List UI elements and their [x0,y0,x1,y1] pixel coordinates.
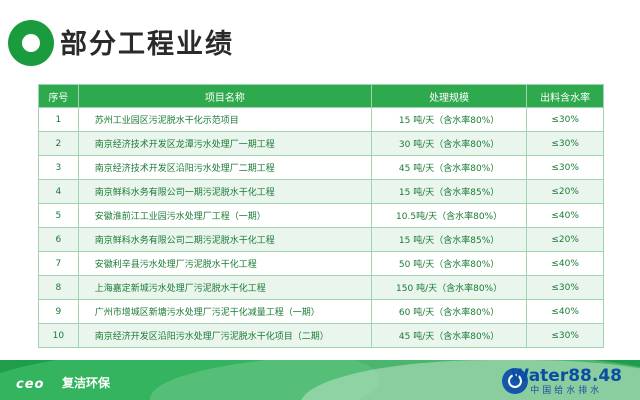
brand-name: 复洁环保 [62,374,110,391]
watermark-sub: 中国给水排水 [511,387,622,396]
cell-scale: 60 吨/天（含水率80%） [371,300,526,324]
performance-table-wrapper: 序号 项目名称 处理规模 出料含水率 1 苏州工业园区污泥脱水干化示范项目 15… [38,84,604,348]
cell-name: 南京鲜科水务有限公司一期污泥脱水干化工程 [78,180,371,204]
watermark: Water88.48 中国给水排水 [511,368,622,396]
cell-name: 苏州工业园区污泥脱水干化示范项目 [78,108,371,132]
cell-water: ≤40% [527,252,604,276]
cell-scale: 15 吨/天（含水率80%） [371,108,526,132]
cell-name: 上海嘉定新城污水处理厂污泥脱水干化工程 [78,276,371,300]
cell-scale: 50 吨/天（含水率80%） [371,252,526,276]
table-row: 3 南京经济技术开发区沿阳污水处理厂二期工程 45 吨/天（含水率80%） ≤3… [39,156,604,180]
table-row: 8 上海嘉定新城污水处理厂污泥脱水干化工程 150 吨/天（含水率80%） ≤3… [39,276,604,300]
table-body: 1 苏州工业园区污泥脱水干化示范项目 15 吨/天（含水率80%） ≤30% 2… [39,108,604,348]
cell-name: 安徽利辛县污水处理厂污泥脱水干化工程 [78,252,371,276]
slide: 部分工程业绩 序号 项目名称 处理规模 出料含水率 1 苏州工业园区污泥脱水干化… [0,0,640,400]
table-header-row: 序号 项目名称 处理规模 出料含水率 [39,85,604,108]
table-header: 序号 项目名称 处理规模 出料含水率 [39,85,604,108]
cell-no: 5 [39,204,79,228]
cell-name: 南京经济技术开发区沿阳污水处理厂二期工程 [78,156,371,180]
table-row: 4 南京鲜科水务有限公司一期污泥脱水干化工程 15 吨/天（含水率85%） ≤2… [39,180,604,204]
cell-water: ≤30% [527,108,604,132]
cell-water: ≤30% [527,132,604,156]
cell-no: 7 [39,252,79,276]
cell-water: ≤20% [527,180,604,204]
performance-table: 序号 项目名称 处理规模 出料含水率 1 苏州工业园区污泥脱水干化示范项目 15… [38,84,604,348]
watermark-word: Water [511,366,569,386]
cell-no: 8 [39,276,79,300]
table-row: 1 苏州工业园区污泥脱水干化示范项目 15 吨/天（含水率80%） ≤30% [39,108,604,132]
cell-name: 南京经济技术开发区龙潭污水处理厂一期工程 [78,132,371,156]
cell-water: ≤30% [527,324,604,348]
col-header-no: 序号 [39,85,79,108]
cell-water: ≤30% [527,276,604,300]
cell-name: 南京经济开发区沿阳污水处理厂污泥脱水干化项目（二期） [78,324,371,348]
cell-water: ≤40% [527,300,604,324]
table-row: 2 南京经济技术开发区龙潭污水处理厂一期工程 30 吨/天（含水率80%） ≤3… [39,132,604,156]
col-header-scale: 处理规模 [371,85,526,108]
cell-no: 3 [39,156,79,180]
cell-name: 广州市增城区新塘污水处理厂污泥干化减量工程（一期） [78,300,371,324]
cell-water: ≤40% [527,204,604,228]
cell-scale: 15 吨/天（含水率85%） [371,228,526,252]
cell-water: ≤30% [527,156,604,180]
cell-no: 10 [39,324,79,348]
cell-no: 6 [39,228,79,252]
cell-no: 4 [39,180,79,204]
table-row: 10 南京经济开发区沿阳污水处理厂污泥脱水干化项目（二期） 45 吨/天（含水率… [39,324,604,348]
cell-scale: 15 吨/天（含水率85%） [371,180,526,204]
page-title: 部分工程业绩 [60,22,234,61]
table-row: 9 广州市增城区新塘污水处理厂污泥干化减量工程（一期） 60 吨/天（含水率80… [39,300,604,324]
table-row: 7 安徽利辛县污水处理厂污泥脱水干化工程 50 吨/天（含水率80%） ≤40% [39,252,604,276]
watermark-number: 88.48 [568,366,622,386]
cell-scale: 45 吨/天（含水率80%） [371,324,526,348]
cell-scale: 10.5吨/天（含水率80%） [371,204,526,228]
logo-circle-icon [8,20,54,66]
col-header-name: 项目名称 [78,85,371,108]
watermark-main: Water88.48 [511,368,622,386]
cell-no: 1 [39,108,79,132]
cell-name: 安徽淮前江工业园污水处理厂工程（一期） [78,204,371,228]
cell-scale: 30 吨/天（含水率80%） [371,132,526,156]
col-header-water: 出料含水率 [527,85,604,108]
cell-scale: 150 吨/天（含水率80%） [371,276,526,300]
cell-water: ≤20% [527,228,604,252]
table-row: 5 安徽淮前江工业园污水处理厂工程（一期） 10.5吨/天（含水率80%） ≤4… [39,204,604,228]
table-row: 6 南京鲜科水务有限公司二期污泥脱水干化工程 15 吨/天（含水率85%） ≤2… [39,228,604,252]
cell-scale: 45 吨/天（含水率80%） [371,156,526,180]
cell-no: 9 [39,300,79,324]
brand-mark-icon: ceo [16,377,44,392]
cell-name: 南京鲜科水务有限公司二期污泥脱水干化工程 [78,228,371,252]
cell-no: 2 [39,132,79,156]
